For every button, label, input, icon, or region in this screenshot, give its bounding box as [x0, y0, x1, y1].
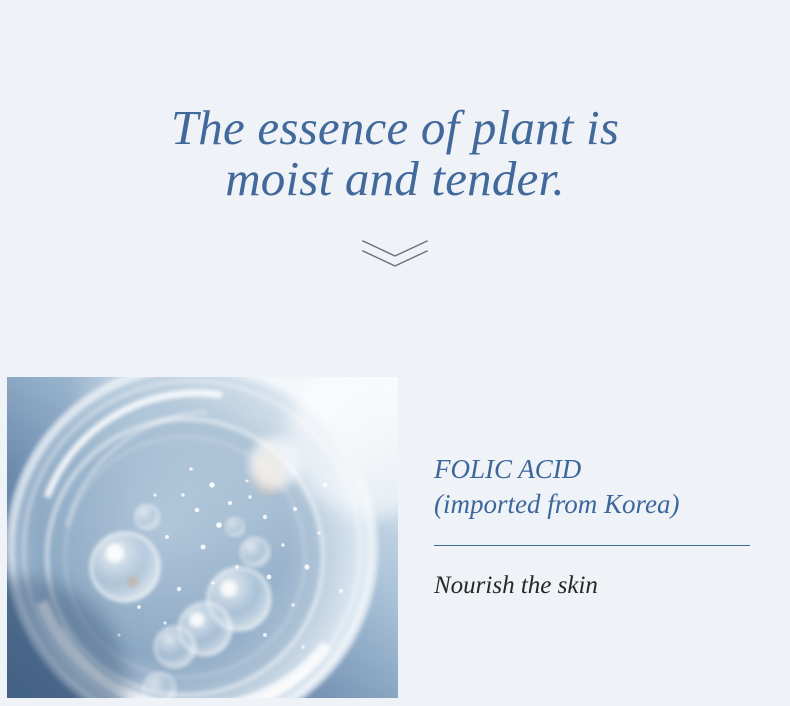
ingredient-subtitle: Nourish the skin: [434, 546, 754, 601]
hero-heading-line-1: The essence of plant is: [0, 103, 790, 153]
serum-droplet-photo: [7, 377, 398, 698]
serum-droplet-image: [7, 377, 398, 698]
ingredient-title-line-1: FOLIC ACID: [434, 377, 754, 487]
section-divider: [0, 238, 790, 268]
hero-heading-line-2: moist and tender.: [0, 154, 790, 204]
double-chevron-down-icon: [360, 238, 430, 268]
ingredient-detail: FOLIC ACID (imported from Korea) Nourish…: [434, 377, 754, 601]
promo-banner: The essence of plant is moist and tender…: [0, 0, 790, 706]
hero-heading: The essence of plant is moist and tender…: [0, 103, 790, 204]
ingredient-title-line-2: (imported from Korea): [434, 487, 754, 522]
ingredient-title: FOLIC ACID (imported from Korea): [434, 377, 754, 522]
ingredient-section: FOLIC ACID (imported from Korea) Nourish…: [0, 377, 790, 698]
